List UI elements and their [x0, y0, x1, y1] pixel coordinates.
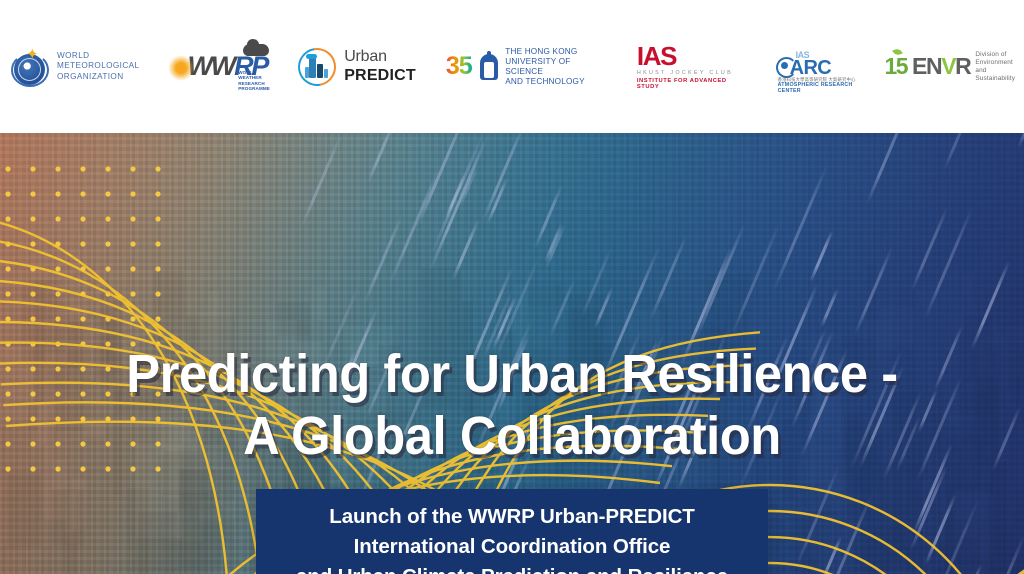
hero-section: Predicting for Urban Resilience - A Glob… — [0, 133, 1024, 574]
city-ring-icon — [297, 47, 337, 87]
event-subtitle-line1: Launch of the WWRP Urban-PREDICT Interna… — [329, 505, 694, 558]
wmo-globe-icon — [10, 47, 50, 87]
logo-hkust-text: THE HONG KONG UNIVERSITY OF SCIENCE AND … — [505, 47, 609, 87]
event-banner: WORLD METEOROLOGICAL ORGANIZATION WWRP W… — [0, 0, 1024, 574]
logo-envr-text: Division of Environment and Sustainabili… — [975, 51, 1024, 83]
logo-urban-predict: Urban PREDICT — [297, 37, 416, 97]
sunburst-icon — [168, 55, 194, 81]
event-title: Predicting for Urban Resilience - A Glob… — [31, 343, 994, 467]
hkust-emblem-icon — [478, 50, 500, 84]
logo-arc: IAS ARC 香港科技大學高等研究院 大氣研究中心 ATMOSPHERIC R… — [776, 44, 861, 90]
logo-wmo-text: WORLD METEOROLOGICAL ORGANIZATION — [57, 51, 140, 83]
event-title-line2: A Global Collaboration — [31, 405, 994, 467]
logo-urban-predict-line2: PREDICT — [344, 68, 416, 84]
logo-arc-subtext: ATMOSPHERIC RESEARCH CENTER — [778, 82, 861, 94]
logo-ias-line1: HKUST JOCKEY CLUB — [637, 70, 733, 76]
logo-envr: 15 ENVR Division of Environment and Sust… — [884, 37, 1024, 97]
logo-ias-line2: INSTITUTE FOR ADVANCED STUDY — [637, 78, 750, 90]
logo-wwrp-subtext: WORLD WEATHER RESEARCH PROGRAMME — [238, 70, 270, 92]
partner-logo-strip: WORLD METEOROLOGICAL ORGANIZATION WWRP W… — [0, 0, 1024, 133]
logo-ias-wordmark: IAS — [637, 44, 676, 68]
logo-hkust: 35 THE HONG KONG UNIVERSITY OF SCIENCE A… — [446, 37, 609, 97]
logo-wwrp: WWRP WORLD WEATHER RESEARCH PROGRAMME — [168, 37, 268, 97]
logo-urban-predict-line1: Urban — [344, 49, 416, 65]
hkust-anniversary-mark: 35 — [446, 52, 472, 81]
logo-envr-wordmark: ENVR — [912, 53, 970, 80]
event-subtitle-line2: and Urban Climate Prediction and Resilie… — [282, 562, 742, 574]
logo-wmo: WORLD METEOROLOGICAL ORGANIZATION — [10, 37, 140, 97]
cloud-icon — [243, 44, 269, 56]
envr-anniversary-mark: 15 — [884, 53, 907, 80]
event-title-line1: Predicting for Urban Resilience - — [126, 344, 897, 404]
event-subtitle-banner: Launch of the WWRP Urban-PREDICT Interna… — [256, 489, 768, 574]
logo-ias: IAS HKUST JOCKEY CLUB INSTITUTE FOR ADVA… — [637, 37, 750, 97]
